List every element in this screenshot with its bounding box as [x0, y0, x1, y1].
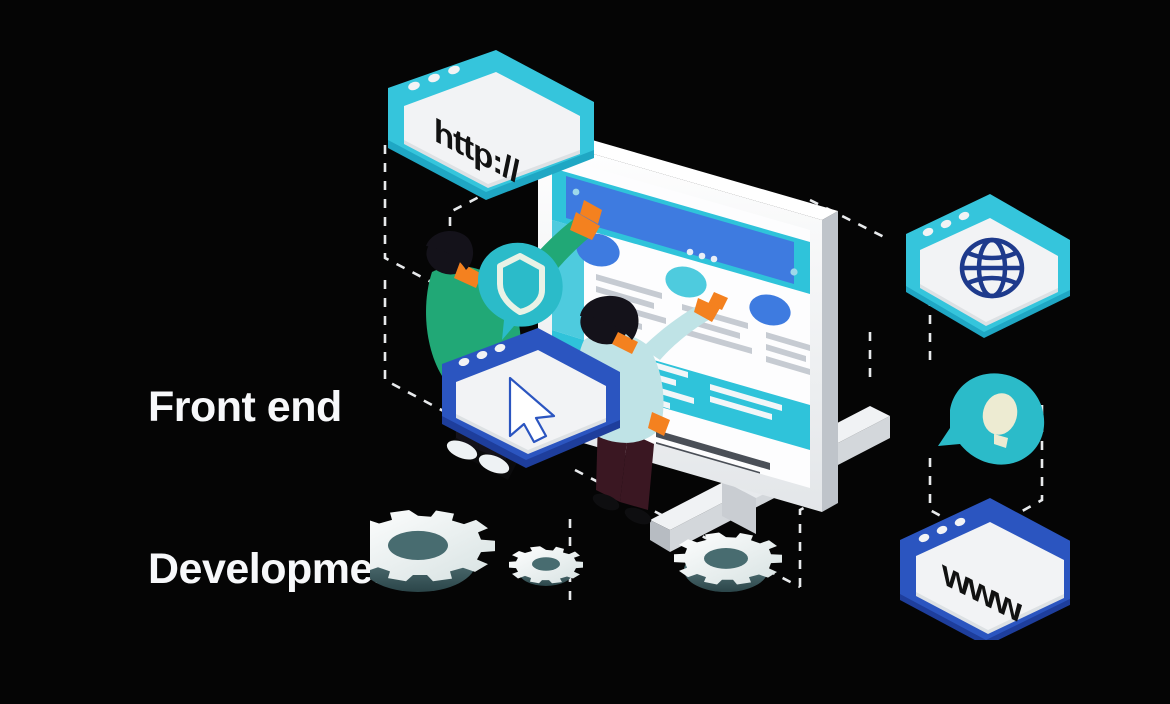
banner-root: Front end Development [0, 0, 1170, 685]
gear-medium [674, 532, 782, 592]
www-card[interactable]: www [900, 498, 1070, 640]
illustration: http:// [370, 40, 1070, 640]
bulb-bubble[interactable] [938, 373, 1044, 464]
gear-small [509, 546, 583, 586]
gear-large [370, 510, 495, 592]
